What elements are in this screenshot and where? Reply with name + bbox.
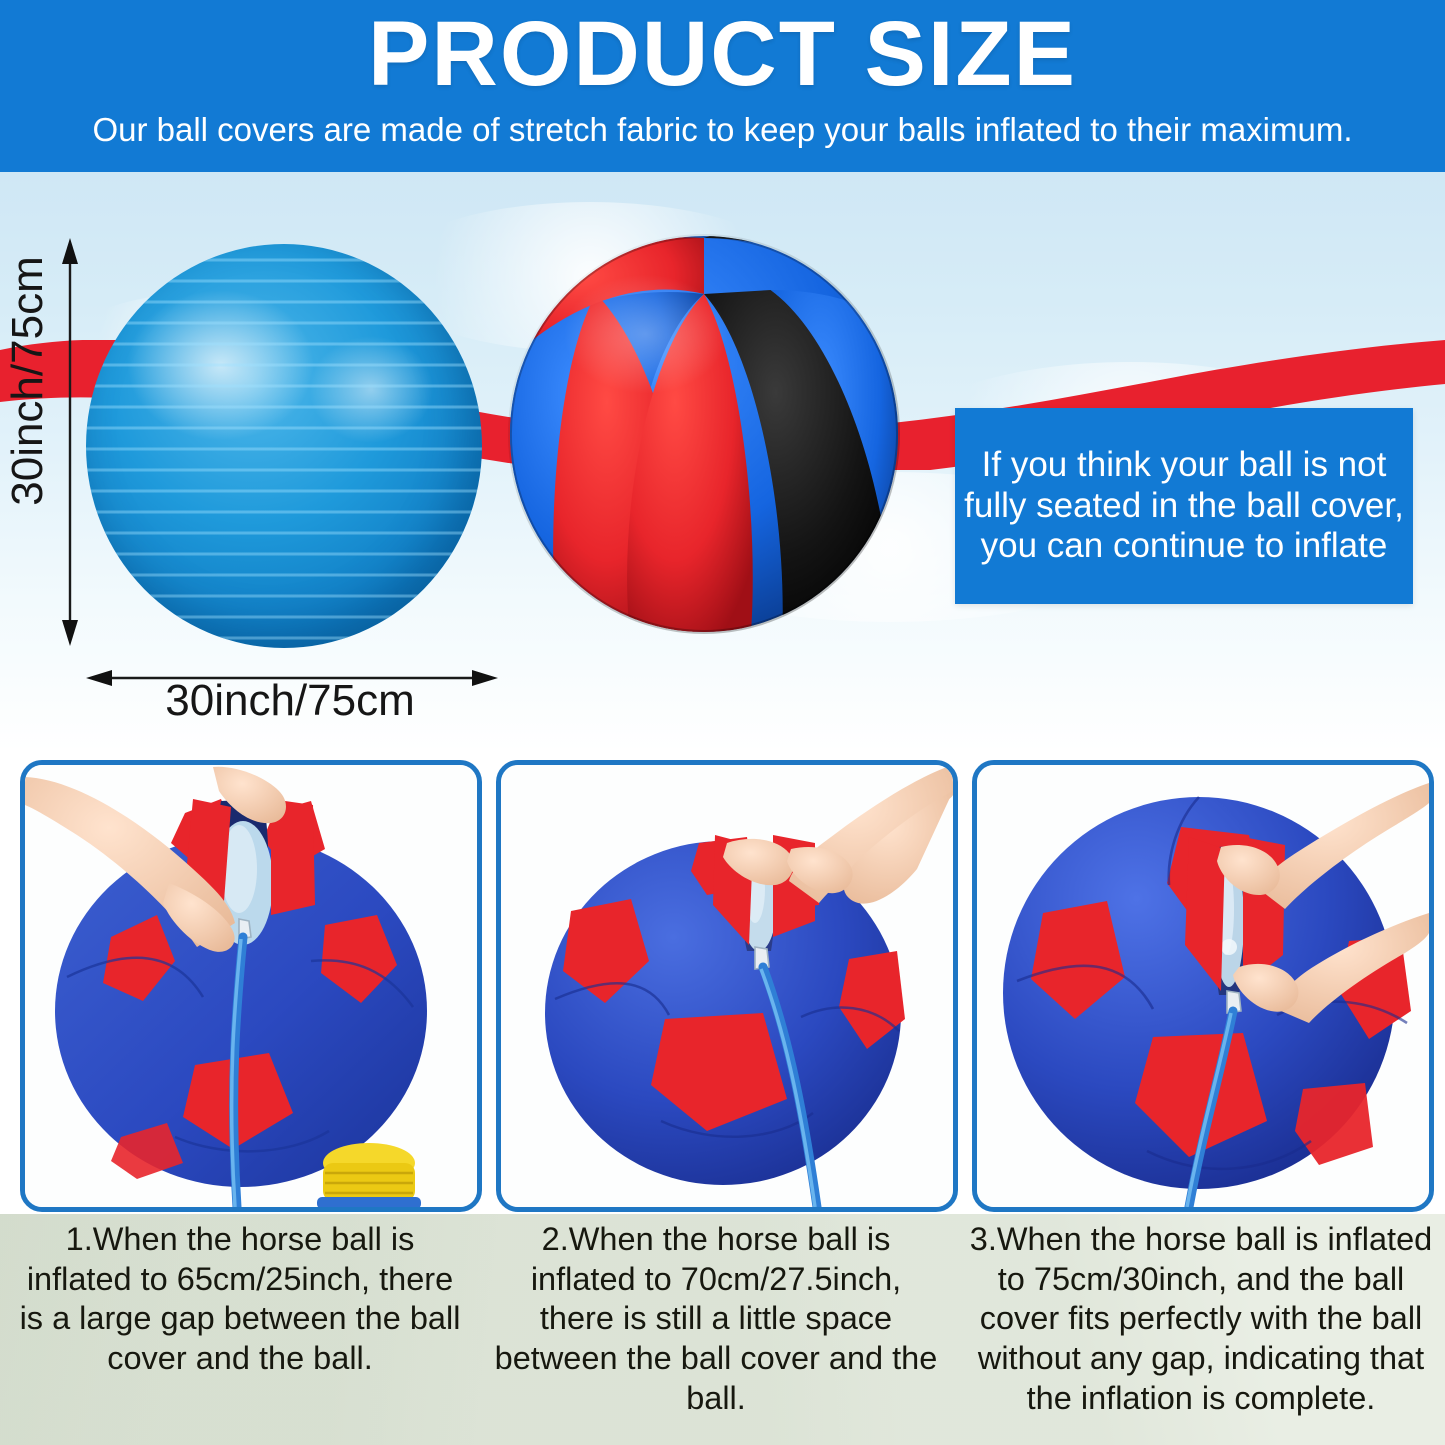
header-banner: PRODUCT SIZE Our ball covers are made of… <box>0 0 1445 196</box>
vertical-dimension-label: 30inch/75cm <box>3 211 53 551</box>
caption-step-2: 2.When the horse ball is inflated to 70c… <box>490 1220 942 1418</box>
caption-group: 1.When the horse ball is inflated to 65c… <box>0 1214 1445 1445</box>
step-photo-1 <box>20 760 482 1212</box>
caption-step-1: 1.When the horse ball is inflated to 65c… <box>14 1220 466 1379</box>
step-photo-3 <box>972 760 1434 1212</box>
header-subtitle: Our ball covers are made of stretch fabr… <box>60 110 1385 150</box>
exercise-ball-image <box>86 244 482 648</box>
product-size-section: 30inch/75cm 30inch/75cm If you think you… <box>0 196 1445 752</box>
inflate-note-text: If you think your ball is not fully seat… <box>955 445 1413 568</box>
beach-ball-image <box>508 234 900 634</box>
vertical-dimension-arrow <box>56 238 84 646</box>
horizontal-dimension-label: 30inch/75cm <box>70 676 510 726</box>
inflate-note-callout: If you think your ball is not fully seat… <box>955 408 1413 604</box>
page-title: PRODUCT SIZE <box>0 6 1445 103</box>
caption-step-3: 3.When the horse ball is inflated to 75c… <box>962 1220 1440 1418</box>
photo-panel-group <box>0 752 1445 1214</box>
step-photo-2 <box>496 760 958 1212</box>
exercise-ball-ribs <box>86 244 482 648</box>
